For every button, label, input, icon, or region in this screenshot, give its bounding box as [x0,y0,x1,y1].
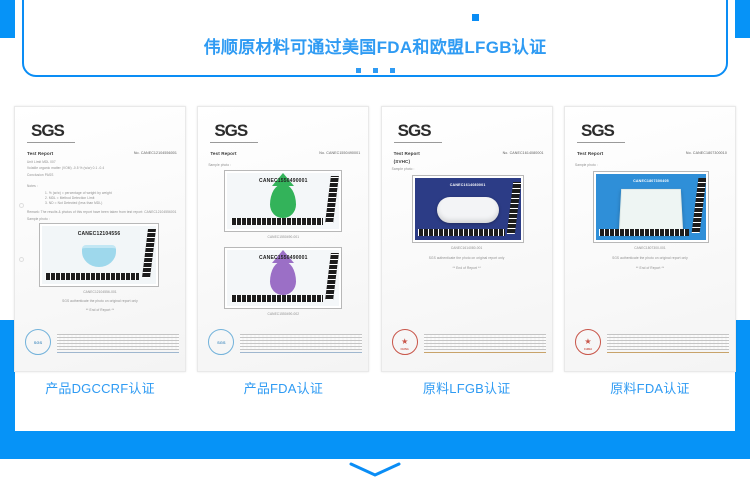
decor-dots [0,62,750,80]
certificate-footer [424,334,546,359]
title-corner-marker [472,14,479,21]
sgs-logo: SGS [31,121,64,141]
footer-fineprint [57,334,179,350]
report-sample-label: Sample photo : [575,163,598,168]
report-title: Test Report [394,151,420,158]
china-seal-stamp: CHINA [392,329,418,355]
report-meta-no: No. CANEC1550490001 [319,151,360,156]
report-title: Test Report [27,151,53,158]
certificate-footer [240,334,362,359]
sample-code-label: CANEC1807300405 [596,179,706,183]
sample-code-label: CANEC1550490001 [227,178,339,184]
ruler-horizontal-icon [231,295,323,302]
certificate-card[interactable]: SGS Test Report (SVHC) No. CANEC16140800… [381,106,553,406]
footer-divider [424,352,546,353]
hole-punch-icon [19,257,24,262]
page-stage: 证书资质 伟顺原材料可通过美国FDA和欧盟LFGB认证 SGS Test Rep… [0,0,750,479]
footer-fineprint [424,334,546,350]
sample-photo-frame: CANEC1550490001 [224,170,342,232]
report-meta-no: No. CANEC1807300010 [686,151,727,156]
certificate-image[interactable]: SGS Test Report No. CANEC1550490001 Samp… [197,106,369,372]
certificate-card[interactable]: SGS Test Report No. CANEC12104556001 Uni… [14,106,186,406]
report-meta: No. CANEC1614080001 [503,151,544,156]
report-table-row: Volatile organic matter (VOM) -0.5 % (w/… [27,166,177,171]
product-sheet-shape [619,189,683,233]
ruler-vertical-icon [506,182,520,234]
report-meta: No. CANEC1550490001 [319,151,360,156]
footer-divider [607,352,729,353]
footer-fineprint [607,334,729,350]
certificate-caption: 原料FDA认证 [564,378,736,397]
sample-code-label: CANEC12104556 [42,231,156,237]
ruler-horizontal-icon [231,218,323,225]
sample-photo: CANEC1614080001 [415,178,521,240]
certificate-footer [607,334,729,359]
report-meta-no: No. CANEC1614080001 [503,151,544,156]
china-seal-stamp: CHINA [575,329,601,355]
sample-photo-frame: CANEC12104556 [39,223,159,287]
sample-code-label: CANEC1550490001 [227,255,339,261]
ruler-horizontal-icon [418,229,505,236]
product-drop-green-shape [270,184,296,218]
sgs-logo: SGS [581,121,614,141]
stamp-label: CHINA [584,348,592,351]
photo-caption: CANEC1550490-002 [198,312,368,317]
report-table-head: Unit Limit MDL 007 [27,160,177,165]
ruler-horizontal-icon [599,229,689,236]
footer-address [424,355,546,359]
chevron-down-icon[interactable] [345,462,405,478]
report-title: Test Report [577,151,603,158]
footer-address [607,355,729,359]
product-bowl-shape [82,245,116,267]
certificate-caption: 产品FDA认证 [197,378,369,397]
decor-dot [373,68,378,73]
photo-caption: CANEC1807300-001 [565,246,735,251]
end-of-report-note: ** End of Report ** [565,266,735,271]
product-pill-shape [437,197,499,223]
footer-address [57,355,179,359]
footer-fineprint [240,334,362,350]
stamp-label: SGS [217,340,225,345]
report-notes-header: Notes : [27,184,38,189]
product-drop-purple-shape [270,261,296,295]
sample-photo: CANEC1550490001 [227,173,339,229]
bottom-accent-bar [0,431,750,459]
certificate-grid: SGS Test Report No. CANEC12104556001 Uni… [14,106,736,406]
sample-code-label: CANEC1614080001 [415,183,521,187]
decor-dot [356,68,361,73]
sgs-stamp: SGS [25,329,51,355]
auth-note: SGS authenticate the photo on original r… [15,299,185,304]
stamp-label: CHINA [401,348,409,351]
certificate-footer [57,334,179,359]
report-title: Test Report [210,151,236,158]
certificate-caption: 产品DGCCRF认证 [14,378,186,397]
sample-photo-frame: CANEC1550490001 [224,247,342,309]
decor-bar-bottom-left [0,320,15,432]
photo-caption: CANEC12104556-001 [15,290,185,295]
sample-photo: CANEC12104556 [42,226,156,284]
report-remark: Remark: The results & photos of this rep… [27,210,177,215]
sgs-logo: SGS [398,121,431,141]
sgs-stamp: SGS [208,329,234,355]
report-subtitle: (SVHC) [394,159,410,166]
stamp-label: SGS [34,340,42,345]
report-meta: No. CANEC12104556001 [134,151,177,156]
certificate-image[interactable]: SGS Test Report No. CANEC12104556001 Uni… [14,106,186,372]
report-sample-label: Sample photo : [208,163,231,168]
sample-photo: CANEC1807300405 [596,174,706,240]
certificate-card[interactable]: SGS Test Report No. CANEC1807300010 Samp… [564,106,736,406]
photo-caption: CANEC1614080-001 [382,246,552,251]
report-meta-no: No. CANEC12104556001 [134,151,177,156]
end-of-report-note: ** End of Report ** [382,266,552,271]
sample-photo-frame: CANEC1614080001 [412,175,524,243]
report-sample-label: Sample photo : [392,167,415,172]
decor-bar-bottom-right [735,320,750,432]
footer-divider [57,352,179,353]
footer-divider [240,352,362,353]
certificate-caption: 原料LFGB认证 [381,378,553,397]
sgs-logo: SGS [214,121,247,141]
report-meta: No. CANEC1807300010 [686,151,727,156]
hole-punch-icon [19,203,24,208]
auth-note: SGS authenticate the photo on original r… [382,256,552,261]
report-sample-label: Sample photo : [27,217,50,222]
end-of-report-note: ** End of Report ** [15,308,185,313]
footer-address [240,355,362,359]
photo-caption: CANEC1550490-001 [198,235,368,240]
certificate-image[interactable]: SGS Test Report No. CANEC1807300010 Samp… [564,106,736,372]
decor-dot [390,68,395,73]
ruler-horizontal-icon [45,273,138,280]
scroll-down-indicator[interactable] [0,462,750,478]
certificate-image[interactable]: SGS Test Report (SVHC) No. CANEC16140800… [381,106,553,372]
certificate-card[interactable]: SGS Test Report No. CANEC1550490001 Samp… [197,106,369,406]
header-subtitle: 伟顺原材料可通过美国FDA和欧盟LFGB认证 [0,33,750,58]
report-conclusion: Conclusion PASS [27,173,177,178]
report-notes: 1. % (w/w) = percentage of weight by wei… [45,191,175,206]
auth-note: SGS authenticate the photo on original r… [565,256,735,261]
sample-photo: CANEC1550490001 [227,250,339,306]
sample-photo-frame: CANEC1807300405 [593,171,709,243]
ruler-vertical-icon [692,178,706,233]
